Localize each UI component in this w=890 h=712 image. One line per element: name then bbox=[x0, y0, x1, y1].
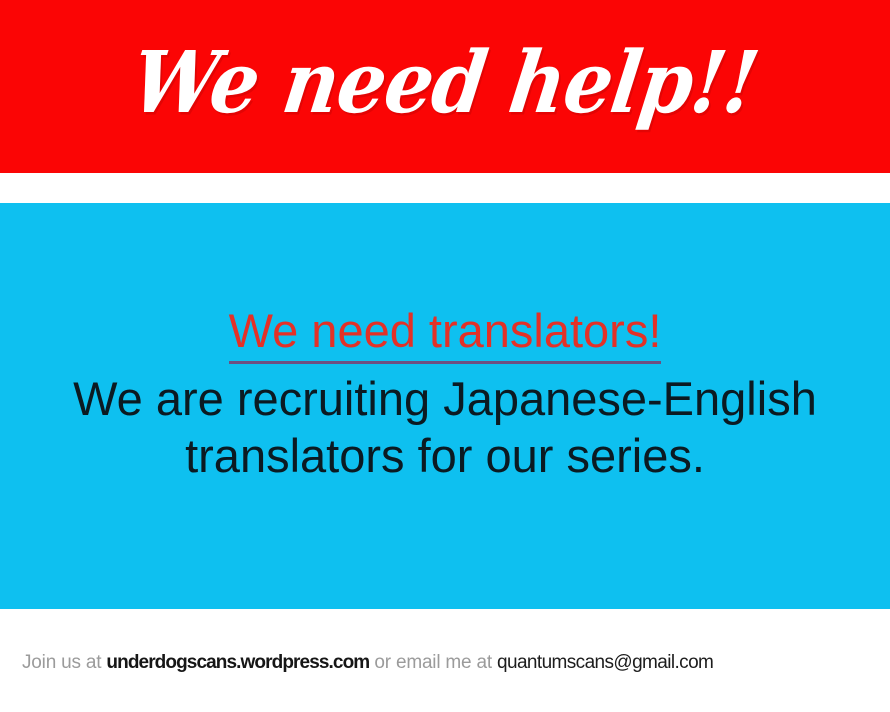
footer-site-link[interactable]: underdogscans.wordpress.com bbox=[106, 652, 369, 673]
header-banner: We need help!! bbox=[0, 0, 890, 173]
banner-body-separator bbox=[0, 173, 890, 203]
body-line-2: translators for our series. bbox=[0, 427, 890, 484]
footer-contact-line: Join us at underdogscans.wordpress.com o… bbox=[22, 652, 713, 674]
recruit-headline: We need translators! bbox=[229, 303, 662, 364]
body-text-block: We need translators! We are recruiting J… bbox=[0, 303, 890, 484]
footer-area: Join us at underdogscans.wordpress.com o… bbox=[0, 609, 890, 712]
announcement-poster: We need help!! We need translators! We a… bbox=[0, 0, 890, 712]
body-line-1: We are recruiting Japanese-English bbox=[0, 370, 890, 427]
headline-row: We need translators! bbox=[0, 303, 890, 364]
footer-intro-text: Join us at bbox=[22, 652, 106, 673]
footer-middle-text: or email me at bbox=[369, 652, 497, 673]
body-panel: We need translators! We are recruiting J… bbox=[0, 203, 890, 609]
page-title: We need help!! bbox=[127, 40, 763, 125]
footer-email-link[interactable]: quantumscans@gmail.com bbox=[497, 652, 713, 673]
